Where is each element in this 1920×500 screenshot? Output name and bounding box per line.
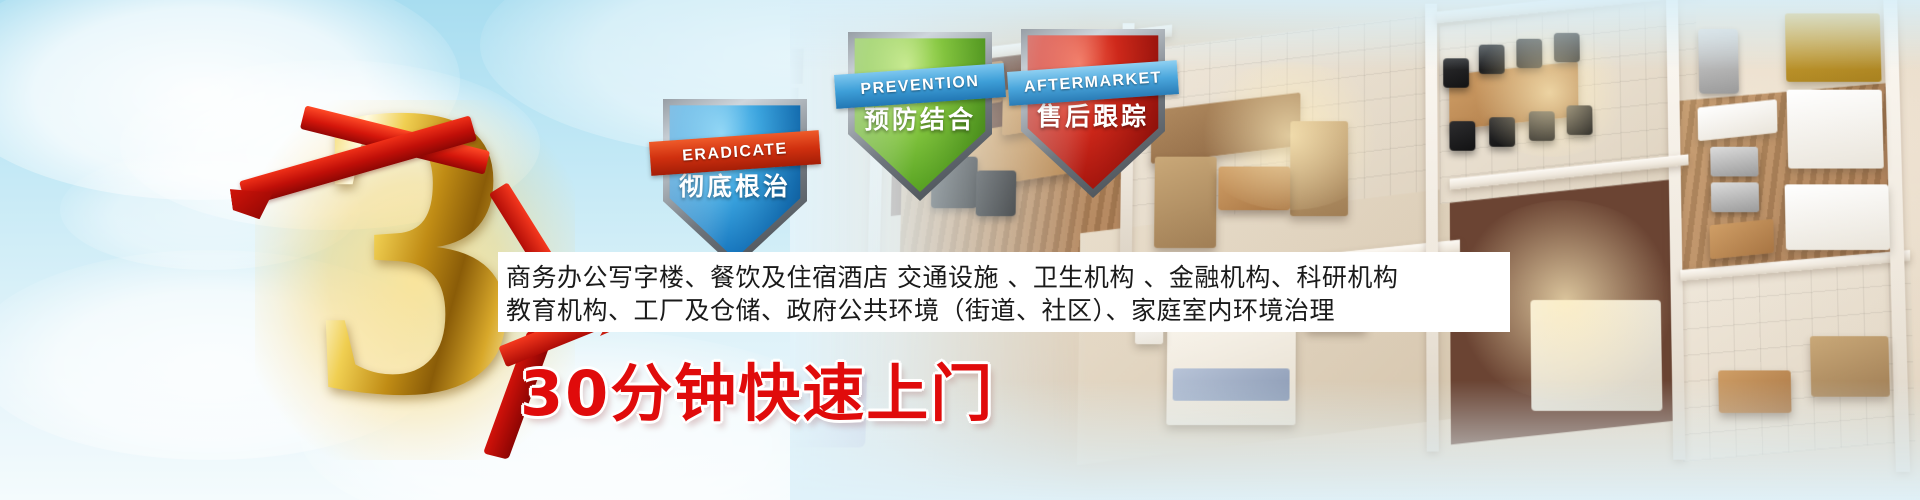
badge-aftermarket-english: AFTERMARKET (1023, 69, 1162, 97)
badge-eradicate-english: ERADICATE (682, 140, 789, 165)
badge-prevention-chinese: 预防结合 (845, 105, 995, 136)
badge-aftermarket: 售后跟踪 AFTERMARKET (1018, 22, 1168, 198)
badge-prevention-english: PREVENTION (860, 73, 980, 99)
badge-eradicate-chinese: 彻底根治 (660, 172, 810, 203)
caption-line-2: 教育机构、工厂及仓储、政府公共环境（街道、社区）、家庭室内环境治理 (506, 294, 1504, 327)
badge-prevention: 预防结合 PREVENTION (845, 25, 995, 201)
promo-headline: 30分钟快速上门 (520, 358, 994, 430)
service-scope-caption: 商务办公写字楼、餐饮及住宿酒店 交通设施 、卫生机构 、金融机构、科研机构 教育… (498, 252, 1510, 332)
caption-line-1: 商务办公写字楼、餐饮及住宿酒店 交通设施 、卫生机构 、金融机构、科研机构 (506, 261, 1504, 294)
badge-eradicate: 彻底根治 ERADICATE (660, 92, 810, 268)
promo-banner: 3 彻底根治 ERADICATE 预防结合 PREVENTION 售后跟踪 AF… (0, 0, 1920, 500)
badge-aftermarket-chinese: 售后跟踪 (1018, 102, 1168, 133)
